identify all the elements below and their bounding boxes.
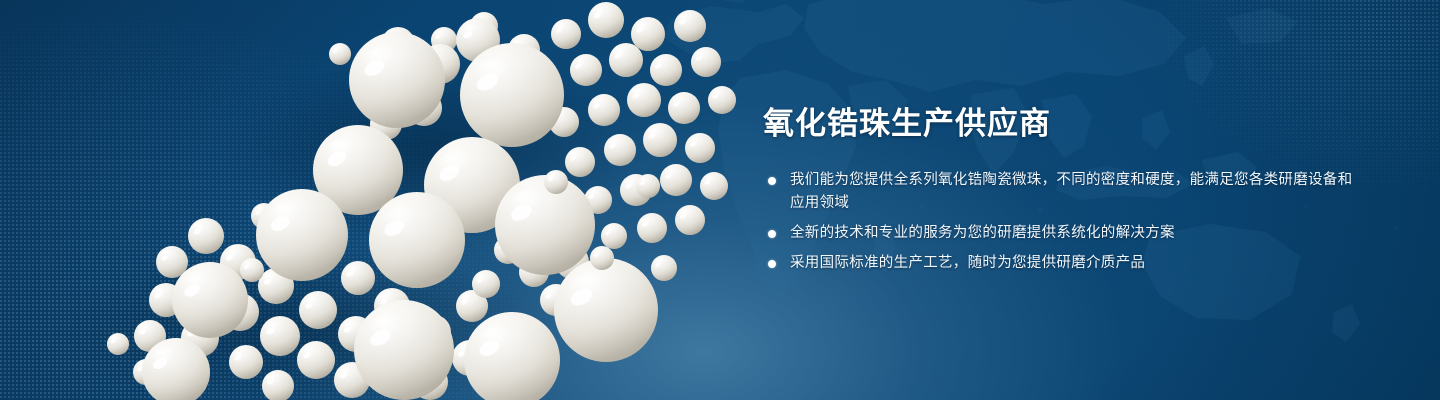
banner-bullet-text: 我们能为您提供全系列氧化锆陶瓷微珠，不同的密度和硬度，能满足您各类研磨设备和应用… xyxy=(790,169,1363,215)
banner-copy: 氧化锆珠生产供应商 我们能为您提供全系列氧化锆陶瓷微珠，不同的密度和硬度，能满足… xyxy=(763,104,1363,275)
bullet-dot-icon xyxy=(768,260,776,268)
bullet-dot-icon xyxy=(768,230,776,238)
banner-bullet-item: 我们能为您提供全系列氧化锆陶瓷微珠，不同的密度和硬度，能满足您各类研磨设备和应用… xyxy=(763,169,1363,215)
bullet-dot-icon xyxy=(768,177,776,185)
banner-bullet-list: 我们能为您提供全系列氧化锆陶瓷微珠，不同的密度和硬度，能满足您各类研磨设备和应用… xyxy=(763,169,1363,275)
banner-bullet-item: 全新的技术和专业的服务为您的研磨提供系统化的解决方案 xyxy=(763,222,1363,245)
banner-bullet-text: 采用国际标准的生产工艺，随时为您提供研磨介质产品 xyxy=(790,252,1363,275)
banner-bullet-text: 全新的技术和专业的服务为您的研磨提供系统化的解决方案 xyxy=(790,222,1363,245)
zirconia-beads-image xyxy=(0,0,760,400)
banner-bullet-item: 采用国际标准的生产工艺，随时为您提供研磨介质产品 xyxy=(763,252,1363,275)
hero-banner: 氧化锆珠生产供应商 我们能为您提供全系列氧化锆陶瓷微珠，不同的密度和硬度，能满足… xyxy=(0,0,1440,400)
banner-headline: 氧化锆珠生产供应商 xyxy=(763,104,1363,144)
